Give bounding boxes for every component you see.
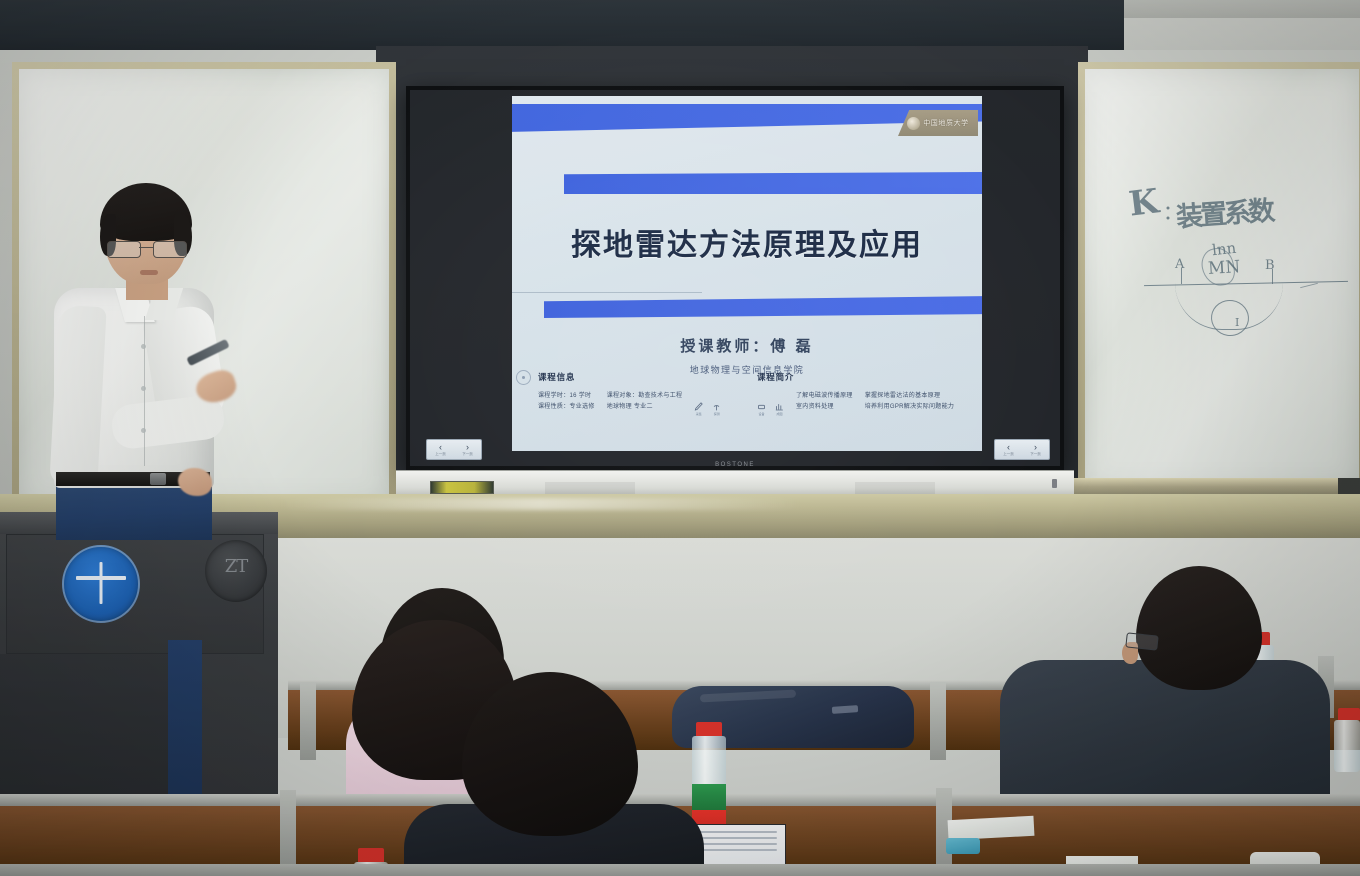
whiteboard-right-ledge bbox=[1074, 478, 1358, 494]
chevron-left-icon: ‹ bbox=[439, 443, 442, 452]
slide-nav-right[interactable]: ‹ 上一页 › 下一页 bbox=[994, 439, 1050, 460]
energy-label-badge bbox=[430, 481, 494, 494]
instructor-glasses-icon bbox=[107, 241, 187, 256]
slide-next-label-right: 下一页 bbox=[1030, 452, 1041, 457]
bench-divider bbox=[300, 682, 316, 760]
antenna-icon-label: 探测 bbox=[714, 412, 720, 416]
instructor-hand-left bbox=[178, 468, 212, 496]
water-bottle-label-green bbox=[692, 784, 726, 810]
chevron-right-icon: › bbox=[1034, 443, 1037, 452]
pencil-icon: 采集 bbox=[694, 402, 703, 412]
display-port bbox=[1052, 479, 1057, 488]
slide-prev-label: 上一页 bbox=[435, 452, 446, 457]
presentation-display[interactable]: 中国地质大学 探地雷达方法原理及应用 授课教师：傅 磊 地球物理与空间信息学院 … bbox=[406, 86, 1064, 470]
shirt-button bbox=[141, 386, 146, 391]
handwriting-tick-a bbox=[1181, 268, 1182, 284]
water-bottle-cap bbox=[1338, 708, 1360, 720]
instructor-leg bbox=[168, 640, 202, 820]
slide-prev-label-right: 上一页 bbox=[1003, 452, 1014, 457]
front-desk-surface bbox=[0, 864, 1360, 876]
slide-hairline bbox=[512, 292, 702, 293]
section-cell-group: 课程对象：勘查技术与工程 地球物理 专业二 bbox=[607, 391, 683, 413]
slide-title: 探地雷达方法原理及应用 bbox=[512, 220, 982, 264]
slide-canvas: 中国地质大学 探地雷达方法原理及应用 授课教师：傅 磊 地球物理与空间信息学院 … bbox=[512, 96, 982, 451]
chevron-right-icon: › bbox=[466, 443, 469, 452]
intro-cell: 室内资料处理 bbox=[796, 402, 853, 413]
slide-prev-button-right[interactable]: ‹ 上一页 bbox=[1003, 443, 1014, 457]
slide-accent-bar-middle bbox=[564, 172, 982, 194]
university-emblem-ring bbox=[62, 545, 140, 623]
display-bezel-strip bbox=[396, 470, 1074, 495]
counter-highlight bbox=[280, 498, 800, 510]
glasses-bridge bbox=[139, 247, 153, 248]
display-brand-label: BOSTONE bbox=[410, 462, 1060, 468]
intro-cell: 掌握探地雷达法的基本原理 bbox=[865, 391, 955, 402]
slide-nav-left[interactable]: ‹ 上一页 › 下一页 bbox=[426, 439, 482, 460]
pencil-icon-label: 采集 bbox=[696, 412, 702, 416]
university-seal-icon bbox=[907, 117, 920, 130]
radar-cart-icon-label: 设备 bbox=[758, 412, 764, 416]
radar-cart-icon: 设备 bbox=[757, 402, 766, 412]
section-cells: 课程学时：16 学时 课程性质：专业选修 课程对象：勘查技术与工程 地球物理 专… bbox=[538, 391, 737, 413]
glasses-lens-left bbox=[107, 241, 141, 258]
desk-item-blue bbox=[946, 838, 980, 854]
chart-icon: 成图 bbox=[775, 402, 784, 412]
slide-section-course-intro: 课程简介 设备 成图 bbox=[757, 371, 956, 443]
section-cell-group: 课程学时：16 学时 课程性质：专业选修 bbox=[538, 391, 595, 413]
water-bottle-body bbox=[1334, 720, 1360, 772]
instructor-shirt-placket bbox=[144, 316, 145, 466]
slide-icon-row-2: 设备 成图 bbox=[757, 391, 784, 413]
slide-prev-button[interactable]: ‹ 上一页 bbox=[435, 443, 446, 457]
ceiling-edge-right bbox=[1124, 0, 1360, 20]
info-cell: 课程性质：专业选修 bbox=[538, 402, 595, 413]
info-cell: 课程学时：16 学时 bbox=[538, 391, 595, 402]
slide-next-label: 下一页 bbox=[462, 452, 473, 457]
antenna-icon: 探测 bbox=[712, 402, 721, 412]
water-bottle-cap bbox=[696, 722, 722, 736]
wall-side-panel bbox=[1338, 478, 1360, 494]
section-cell-group: 了解电磁波传播原理 室内资料处理 bbox=[796, 391, 853, 413]
section-cells: 设备 成图 了解电磁波传播原理 室内资料处理 掌握探地雷 bbox=[757, 391, 956, 413]
slide-presenter: 授课教师：傅 磊 bbox=[512, 335, 982, 356]
student-right-glasses-icon bbox=[1125, 632, 1158, 650]
chevron-left-icon: ‹ bbox=[1007, 443, 1010, 452]
water-bottle-cap bbox=[358, 848, 384, 862]
slide-next-button-right[interactable]: › 下一页 bbox=[1030, 443, 1041, 457]
section-cell-group: 掌握探地雷达法的基本原理 培养利用GPR解决实际问题能力 bbox=[865, 391, 955, 413]
glasses-lens-right bbox=[153, 241, 187, 258]
instructor-belt-buckle bbox=[150, 473, 166, 485]
slide-accent-bar-lower bbox=[544, 296, 982, 318]
slide-next-button[interactable]: › 下一页 bbox=[462, 443, 473, 457]
shirt-button bbox=[141, 428, 146, 433]
info-cell: 课程对象：勘查技术与工程 bbox=[607, 391, 683, 402]
university-logo-badge: 中国地质大学 bbox=[898, 110, 978, 136]
slide-footer: 课程信息 课程学时：16 学时 课程性质：专业选修 课程对象：勘查技术与工程 地… bbox=[512, 371, 982, 443]
section-heading: 课程信息 bbox=[538, 371, 737, 383]
slide-section-course-info: 课程信息 课程学时：16 学时 课程性质：专业选修 课程对象：勘查技术与工程 地… bbox=[538, 371, 737, 443]
intro-cell: 培养利用GPR解决实际问题能力 bbox=[865, 402, 955, 413]
instructor-left-arm bbox=[49, 305, 106, 487]
info-cell: 地球物理 专业二 bbox=[607, 402, 683, 413]
shirt-button bbox=[141, 344, 146, 349]
lecture-hall-photo: K ： 装置系数 lnn A MN B I 中国地质大学 探地雷达方法原理及应用… bbox=[0, 0, 1360, 876]
bench-divider bbox=[930, 682, 946, 760]
intro-cell: 了解电磁波传播原理 bbox=[796, 391, 853, 402]
secondary-emblem-text: ZT bbox=[205, 556, 267, 577]
handwriting-tick-b bbox=[1272, 269, 1273, 284]
university-logo-text: 中国地质大学 bbox=[923, 118, 969, 128]
slide-icon-row: 采集 探测 bbox=[694, 391, 721, 413]
chart-icon-label: 成图 bbox=[776, 412, 782, 416]
section-heading: 课程简介 bbox=[757, 371, 956, 383]
instructor-mouth bbox=[140, 270, 158, 275]
